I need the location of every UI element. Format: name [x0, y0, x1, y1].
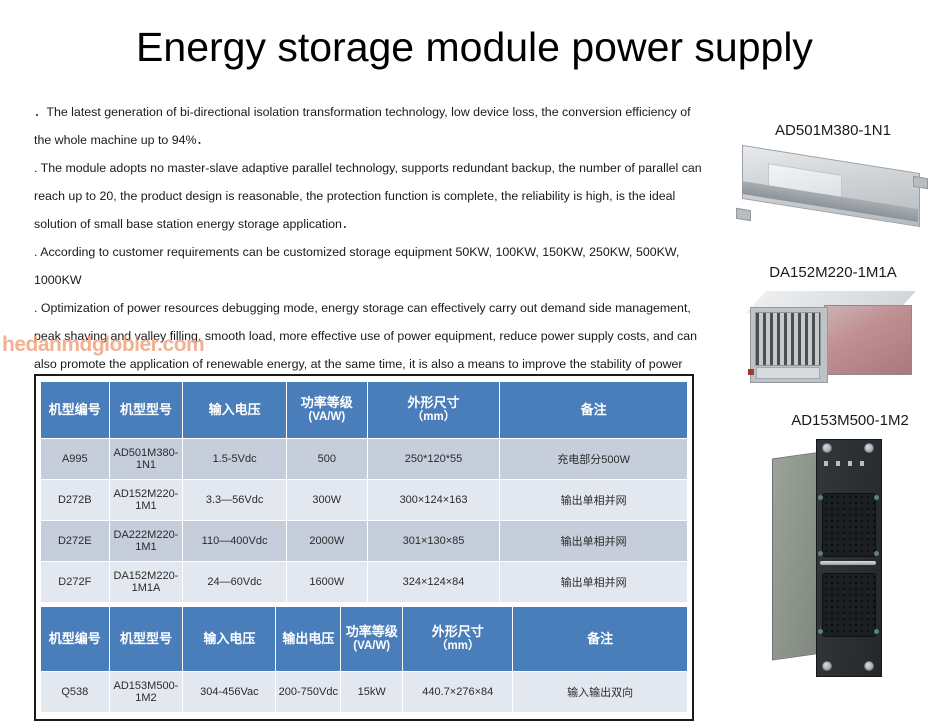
- specification-table-frame: 机型编号 机型型号 输入电压 功率等级 (VA/W) 外形尺寸 （mm） 备注: [34, 374, 694, 721]
- tall-fan-module-photo: [770, 433, 930, 681]
- module-front-face: [816, 439, 882, 677]
- cell-input-voltage: 3.3—56Vdc: [183, 480, 287, 521]
- cell-model-code: A995: [41, 439, 110, 480]
- column-header-input-voltage: 输入电压: [183, 382, 287, 439]
- cell-dimensions: 250*120*55: [367, 439, 500, 480]
- column-header-input-voltage: 输入电压: [183, 607, 276, 672]
- column-header-unit: （mm）: [370, 411, 498, 424]
- column-header-label: 输入电压: [209, 402, 261, 417]
- description-paragraph-1: ．The latest generation of bi-directional…: [34, 98, 706, 154]
- column-header-label: 机型编号: [49, 402, 101, 417]
- specification-table-2: 机型编号 机型型号 输入电压 输出电压 功率等级 (VA/W) 外形尺寸 （mm: [40, 606, 688, 713]
- cell-input-voltage: 1.5-5Vdc: [183, 439, 287, 480]
- column-header-label: 机型型号: [120, 402, 172, 417]
- ventilated-module-photo: [728, 285, 938, 385]
- product-block-1: AD501M380-1N1: [720, 122, 946, 241]
- table-row: D272B AD152M220-1M1 3.3—56Vdc 300W 300×1…: [41, 480, 688, 521]
- cell-dimensions: 324×124×84: [367, 562, 500, 603]
- column-header-model-code: 机型编号: [41, 382, 110, 439]
- module-panel-fastener: [874, 629, 879, 634]
- cell-model-type: DA222M220-1M1: [109, 521, 183, 562]
- column-header-label: 机型型号: [120, 631, 172, 646]
- table-row: Q538 AD153M500-1M2 304-456Vac 200-750Vdc…: [41, 672, 688, 713]
- module-pull-handle: [820, 561, 876, 565]
- column-header-power-rating: 功率等级 (VA/W): [286, 382, 367, 439]
- module-panel-fastener: [818, 495, 823, 500]
- column-header-dimensions: 外形尺寸 （mm）: [403, 607, 513, 672]
- module-panel-fastener: [874, 551, 879, 556]
- column-header-remarks: 备注: [500, 382, 688, 439]
- cell-model-type: AD153M500-1M2: [109, 672, 183, 713]
- cell-model-type: AD501M380-1N1: [109, 439, 183, 480]
- column-header-power-rating: 功率等级 (VA/W): [341, 607, 403, 672]
- module-thumbscrew: [822, 443, 832, 453]
- module-panel-fastener: [818, 629, 823, 634]
- product-block-2: DA152M220-1M1A: [720, 264, 946, 385]
- cell-power-rating: 15kW: [341, 672, 403, 713]
- cell-dimensions: 440.7×276×84: [403, 672, 513, 713]
- module-thumbscrew: [864, 661, 874, 671]
- product-block-3: AD153M500-1M2: [755, 412, 945, 681]
- module-fan-grille-upper: [822, 493, 876, 557]
- table-header-row: 机型编号 机型型号 输入电压 输出电压 功率等级 (VA/W) 外形尺寸 （mm: [41, 607, 688, 672]
- description-text-block: ．The latest generation of bi-directional…: [34, 98, 706, 406]
- module-mount-bracket: [913, 176, 928, 189]
- cell-model-type: AD152M220-1M1: [109, 480, 183, 521]
- column-header-model-code: 机型编号: [41, 607, 110, 672]
- column-header-unit: （mm）: [405, 640, 510, 653]
- cell-model-code: D272E: [41, 521, 110, 562]
- column-header-dimensions: 外形尺寸 （mm）: [367, 382, 500, 439]
- cell-power-rating: 2000W: [286, 521, 367, 562]
- column-header-model-type: 机型型号: [109, 382, 183, 439]
- table-header-row: 机型编号 机型型号 输入电压 功率等级 (VA/W) 外形尺寸 （mm） 备注: [41, 382, 688, 439]
- description-paragraph-3: . According to customer requirements can…: [34, 238, 706, 294]
- cell-remarks: 输出单相并网: [500, 562, 688, 603]
- column-header-model-type: 机型型号: [109, 607, 183, 672]
- module-status-led-row: [824, 461, 872, 466]
- cell-remarks: 输入输出双向: [513, 672, 688, 713]
- product-caption-2: DA152M220-1M1A: [720, 264, 946, 281]
- cell-model-type: DA152M220-1M1A: [109, 562, 183, 603]
- cell-dimensions: 300×124×163: [367, 480, 500, 521]
- cell-input-voltage: 24—60Vdc: [183, 562, 287, 603]
- cell-remarks: 充电部分500W: [500, 439, 688, 480]
- module-connector-slot: [756, 367, 820, 379]
- table-row: A995 AD501M380-1N1 1.5-5Vdc 500 250*120*…: [41, 439, 688, 480]
- column-header-unit: (VA/W): [343, 640, 400, 653]
- column-header-label: 输出电压: [282, 631, 334, 646]
- cell-power-rating: 1600W: [286, 562, 367, 603]
- column-header-label: 功率等级: [301, 395, 353, 410]
- column-header-unit: (VA/W): [289, 411, 365, 424]
- product-caption-3: AD153M500-1M2: [755, 412, 945, 429]
- module-mount-bracket: [736, 208, 751, 221]
- column-header-label: 功率等级: [346, 624, 398, 639]
- module-thumbscrew: [822, 661, 832, 671]
- cell-remarks: 输出单相并网: [500, 521, 688, 562]
- cell-model-code: Q538: [41, 672, 110, 713]
- cell-model-code: D272F: [41, 562, 110, 603]
- cell-input-voltage: 304-456Vac: [183, 672, 276, 713]
- table-row: D272E DA222M220-1M1 110—400Vdc 2000W 301…: [41, 521, 688, 562]
- module-thumbscrew: [864, 443, 874, 453]
- module-panel-fastener: [874, 495, 879, 500]
- cell-remarks: 输出单相并网: [500, 480, 688, 521]
- specification-table-1: 机型编号 机型型号 输入电压 功率等级 (VA/W) 外形尺寸 （mm） 备注: [40, 381, 688, 603]
- description-paragraph-2: . The module adopts no master-slave adap…: [34, 154, 706, 238]
- module-side-panel: [772, 451, 822, 660]
- module-fan-grille-lower: [822, 573, 876, 637]
- table-row: D272F DA152M220-1M1A 24—60Vdc 1600W 324×…: [41, 562, 688, 603]
- module-vent-grille: [755, 312, 821, 366]
- column-header-label: 备注: [581, 402, 607, 417]
- flat-rack-module-photo: [728, 143, 938, 241]
- product-caption-1: AD501M380-1N1: [720, 122, 946, 139]
- column-header-label: 机型编号: [49, 631, 101, 646]
- column-header-label: 输入电压: [203, 631, 255, 646]
- column-header-label: 备注: [587, 631, 613, 646]
- column-header-remarks: 备注: [513, 607, 688, 672]
- module-side-panel: [824, 305, 912, 375]
- module-panel-fastener: [818, 551, 823, 556]
- module-latch-tab: [748, 369, 754, 375]
- cell-model-code: D272B: [41, 480, 110, 521]
- cell-input-voltage: 110—400Vdc: [183, 521, 287, 562]
- cell-output-voltage: 200-750Vdc: [276, 672, 341, 713]
- column-header-label: 外形尺寸: [408, 395, 460, 410]
- cell-power-rating: 300W: [286, 480, 367, 521]
- page-title: Energy storage module power supply: [0, 24, 949, 71]
- column-header-label: 外形尺寸: [432, 624, 484, 639]
- column-header-output-voltage: 输出电压: [276, 607, 341, 672]
- cell-power-rating: 500: [286, 439, 367, 480]
- cell-dimensions: 301×130×85: [367, 521, 500, 562]
